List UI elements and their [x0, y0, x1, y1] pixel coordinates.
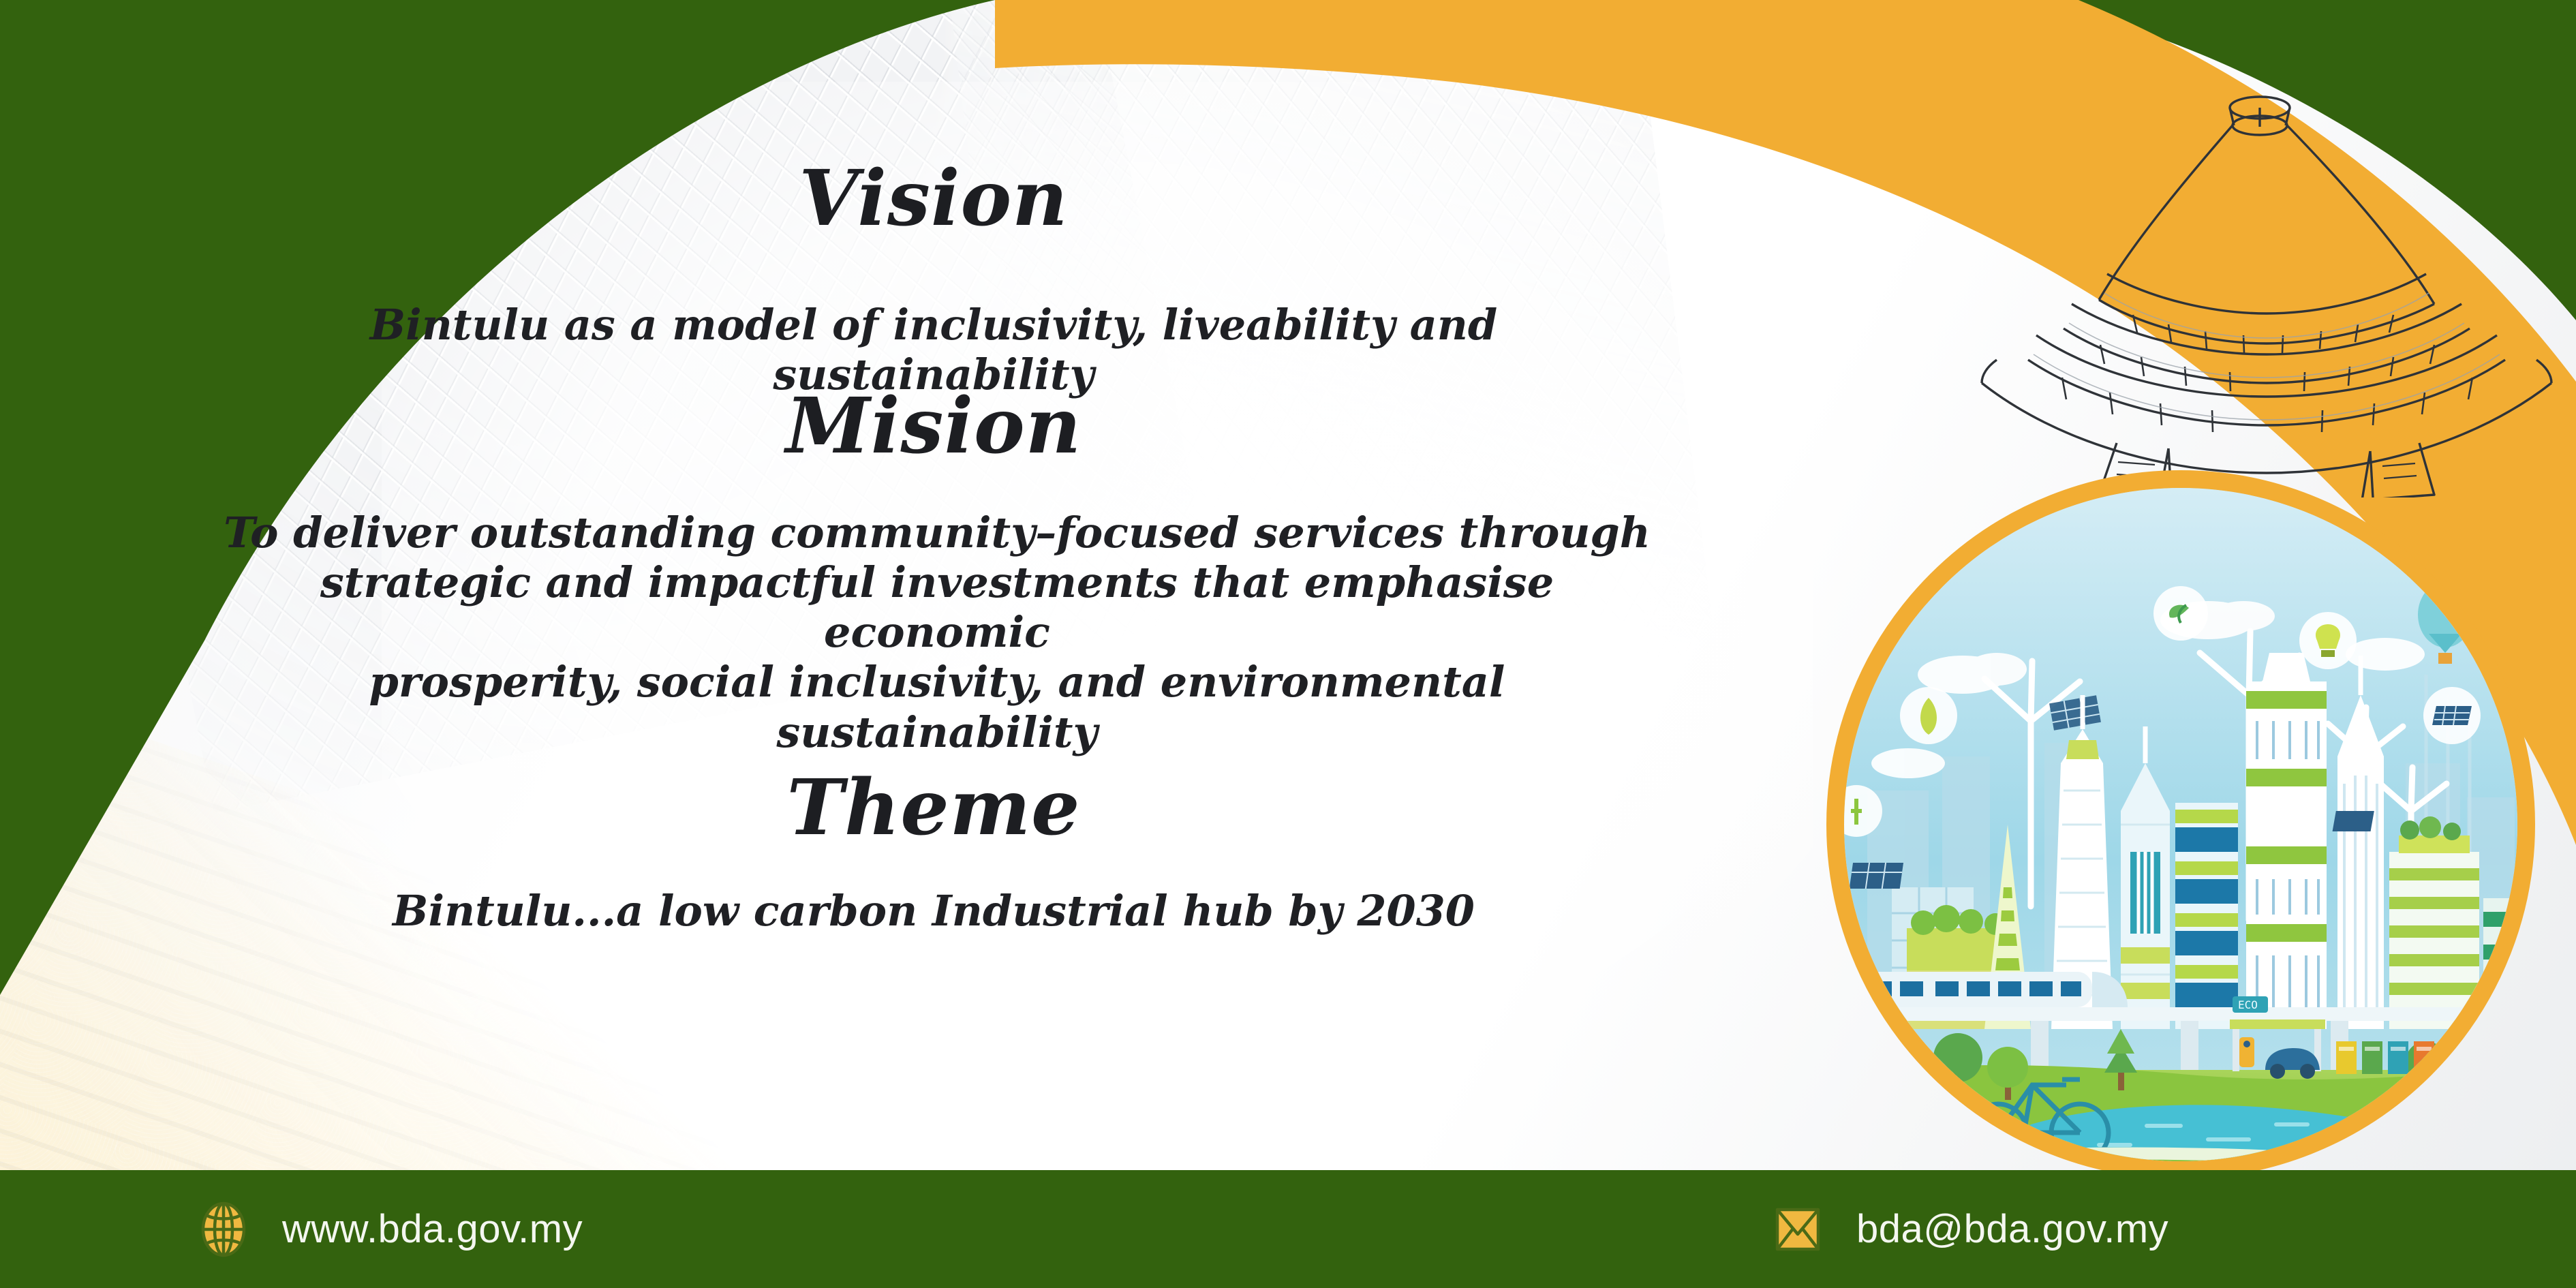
mission-line-1: To deliver outstanding community–focused… — [204, 508, 1670, 557]
globe-icon — [196, 1200, 251, 1259]
mission-heading: Mision — [586, 388, 1281, 465]
banner: ECO — [0, 0, 2576, 1288]
mission-text: To deliver outstanding community–focused… — [204, 508, 1670, 757]
website-label: www.bda.gov.my — [282, 1206, 583, 1252]
footer-email[interactable]: bda@bda.gov.my — [1770, 1200, 2168, 1259]
svg-text:ECO: ECO — [2238, 998, 2258, 1011]
landmark-building-icon — [1929, 75, 2576, 497]
footer-website[interactable]: www.bda.gov.my — [196, 1200, 583, 1259]
footer-bar: www.bda.gov.my bda@bda.gov.my — [0, 1170, 2576, 1288]
text-content: Vision Bintulu as a model of inclusivity… — [0, 0, 1854, 1172]
theme-text: Bintulu...a low carbon Industrial hub by… — [286, 886, 1581, 936]
mission-line-3: prosperity, social inclusivity, and envi… — [204, 657, 1670, 756]
vision-heading: Vision — [586, 161, 1281, 237]
eco-city-illustration: ECO — [1826, 470, 2535, 1179]
envelope-icon — [1770, 1200, 1825, 1259]
email-label: bda@bda.gov.my — [1856, 1206, 2168, 1252]
mission-line-2: strategic and impactful investments that… — [204, 557, 1670, 657]
theme-heading: Theme — [586, 770, 1281, 846]
eco-city-badge: ECO — [1826, 470, 2535, 1179]
